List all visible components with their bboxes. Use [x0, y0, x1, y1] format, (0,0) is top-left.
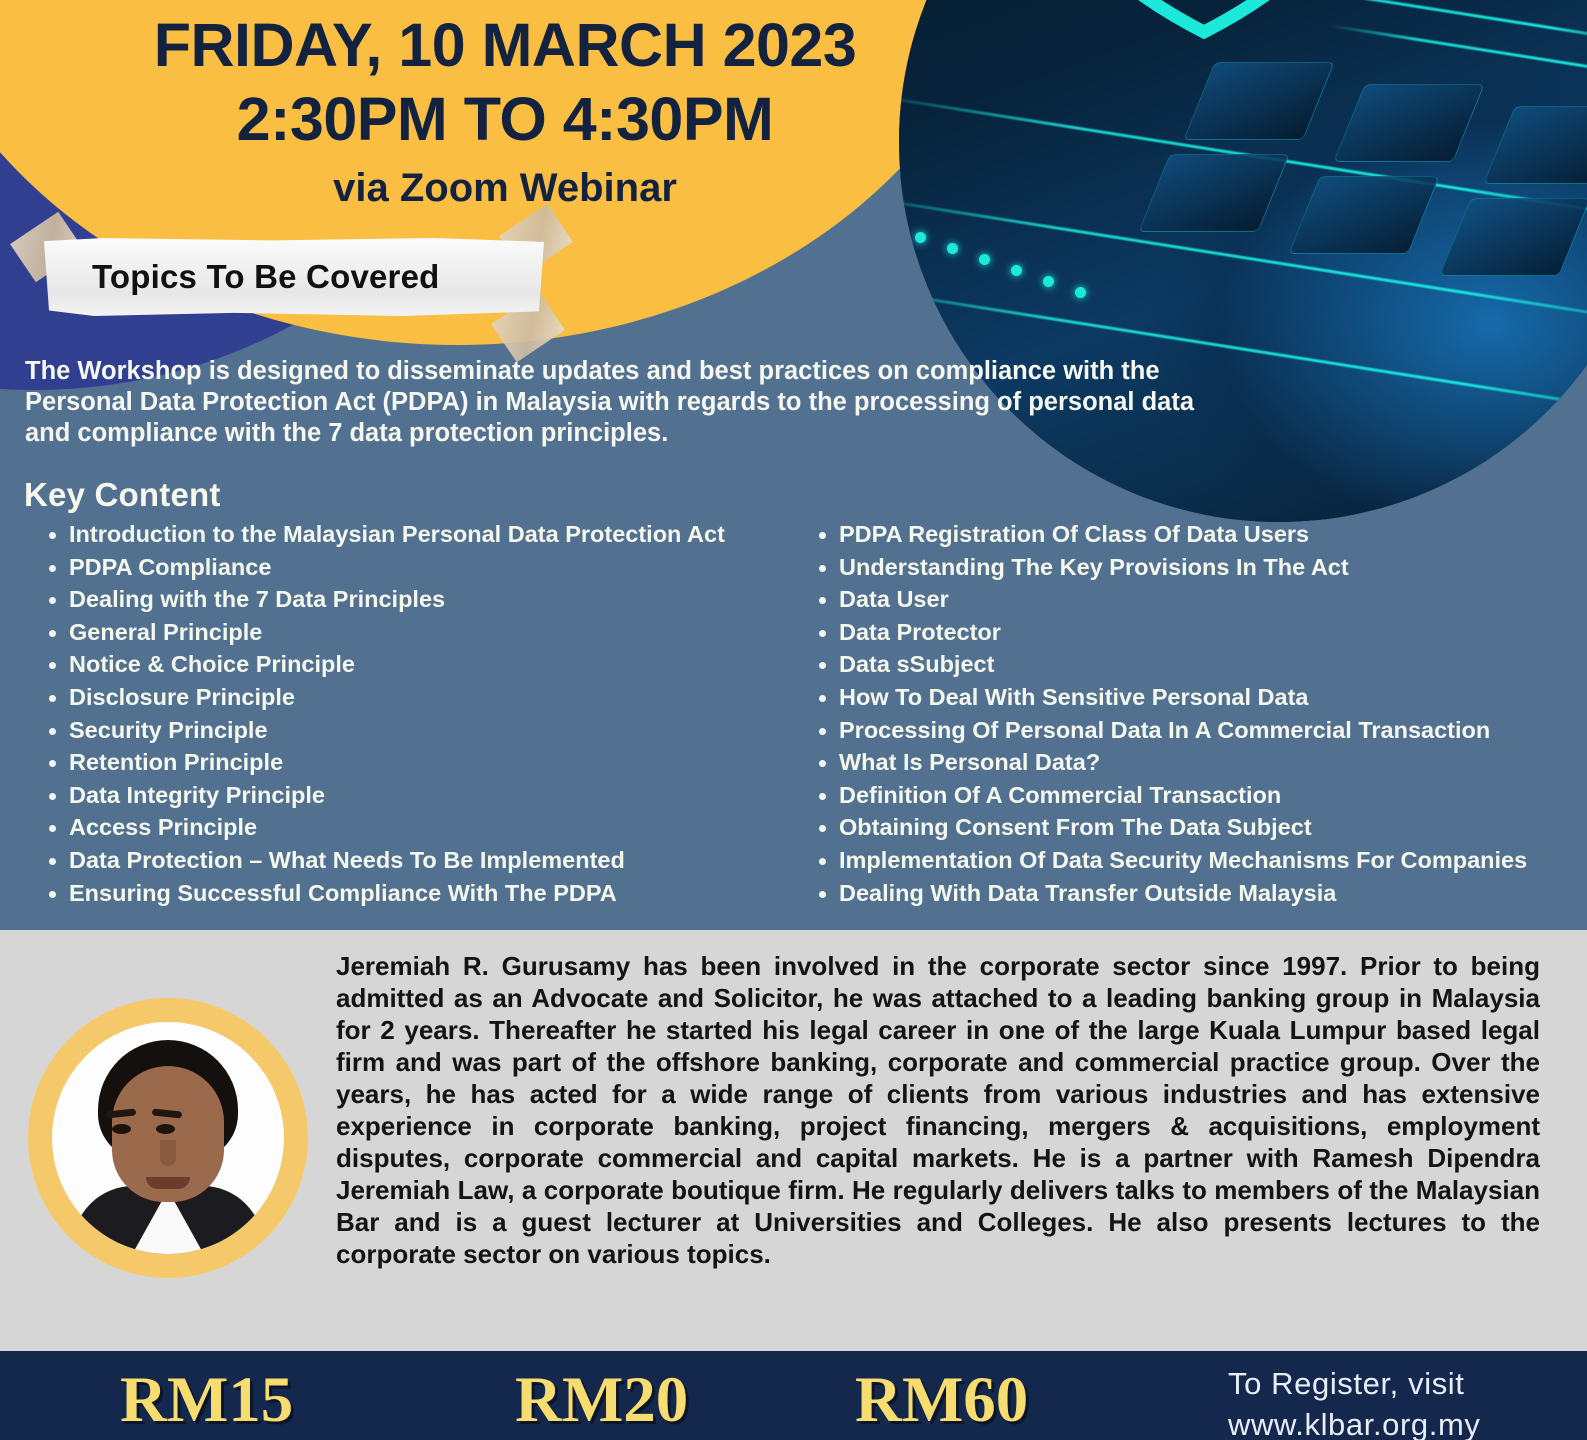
key-content-item: Security Principle — [24, 714, 794, 747]
key-content-item: How To Deal With Sensitive Personal Data — [794, 681, 1554, 714]
key-content-item: Data Integrity Principle — [24, 779, 794, 812]
key-content-item: Processing Of Personal Data In A Commerc… — [794, 714, 1554, 747]
event-time: 2:30PM TO 4:30PM — [0, 82, 1010, 156]
key-content-item: Obtaining Consent From The Data Subject — [794, 811, 1554, 844]
key-content-item: Dealing With Data Transfer Outside Malay… — [794, 877, 1554, 910]
key-content-heading: Key Content — [24, 476, 221, 514]
intro-line-2: Personal Data Protection Act (PDPA) in M… — [25, 387, 1215, 418]
key-content-item: PDPA Compliance — [24, 551, 794, 584]
event-venue: via Zoom Webinar — [0, 156, 1010, 216]
key-content-item: Dealing with the 7 Data Principles — [24, 583, 794, 616]
key-content-item: Data Protection – What Needs To Be Imple… — [24, 844, 794, 877]
register-label: To Register, visit — [1228, 1363, 1481, 1404]
header-block: FRIDAY, 10 MARCH 2023 2:30PM TO 4:30PM v… — [0, 0, 1010, 216]
key-content-item: Ensuring Successful Compliance With The … — [24, 877, 794, 910]
key-content-item: Access Principle — [24, 811, 794, 844]
footer-bar: RM15 RM20 RM60 To Register, visit www.kl… — [0, 1351, 1587, 1440]
avatar-nose — [160, 1140, 176, 1166]
banner-paper: Topics To Be Covered — [44, 238, 544, 316]
event-date: FRIDAY, 10 MARCH 2023 — [0, 0, 1010, 82]
key-content-item: Notice & Choice Principle — [24, 648, 794, 681]
price-tier-3: RM60 — [855, 1363, 1028, 1438]
price-tier-2: RM20 — [515, 1363, 688, 1438]
speaker-avatar — [52, 1022, 284, 1254]
key-content-item: General Principle — [24, 616, 794, 649]
register-info: To Register, visit www.klbar.org.my — [1228, 1363, 1481, 1440]
key-content-item: Data User — [794, 583, 1554, 616]
speaker-section: Jeremiah R. Gurusamy has been involved i… — [0, 930, 1587, 1351]
key-content-item: What Is Personal Data? — [794, 746, 1554, 779]
key-content-left-column: Introduction to the Malaysian Personal D… — [24, 518, 794, 909]
key-content-right-column: PDPA Registration Of Class Of Data Users… — [794, 518, 1554, 909]
key-content-left-list: Introduction to the Malaysian Personal D… — [24, 518, 794, 909]
key-content-item: Implementation Of Data Security Mechanis… — [794, 844, 1554, 877]
speaker-avatar-ring — [28, 998, 308, 1278]
key-content-item: Introduction to the Malaysian Personal D… — [24, 518, 794, 551]
key-content-columns: Introduction to the Malaysian Personal D… — [24, 518, 1564, 909]
key-content-item: Data sSubject — [794, 648, 1554, 681]
price-tier-1: RM15 — [120, 1363, 293, 1438]
speaker-bio: Jeremiah R. Gurusamy has been involved i… — [336, 950, 1540, 1270]
key-content-right-list: PDPA Registration Of Class Of Data Users… — [794, 518, 1554, 909]
key-content-item: Disclosure Principle — [24, 681, 794, 714]
register-url[interactable]: www.klbar.org.my — [1228, 1404, 1481, 1440]
key-content-item: Data Protector — [794, 616, 1554, 649]
intro-line-1: The Workshop is designed to disseminate … — [25, 356, 1215, 387]
intro-line-3: and compliance with the 7 data protectio… — [25, 418, 1215, 449]
avatar-eye-left — [112, 1124, 131, 1134]
key-content-item: Retention Principle — [24, 746, 794, 779]
poster-root: 10111110100101 01010111010010101101 0000… — [0, 0, 1587, 1440]
topics-banner: Topics To Be Covered — [18, 232, 563, 324]
key-content-item: PDPA Registration Of Class Of Data Users — [794, 518, 1554, 551]
intro-paragraph: The Workshop is designed to disseminate … — [25, 356, 1215, 449]
avatar-eye-right — [156, 1124, 175, 1134]
key-content-item: Understanding The Key Provisions In The … — [794, 551, 1554, 584]
avatar-mouth — [146, 1177, 190, 1189]
banner-label: Topics To Be Covered — [44, 258, 440, 296]
key-content-item: Definition Of A Commercial Transaction — [794, 779, 1554, 812]
